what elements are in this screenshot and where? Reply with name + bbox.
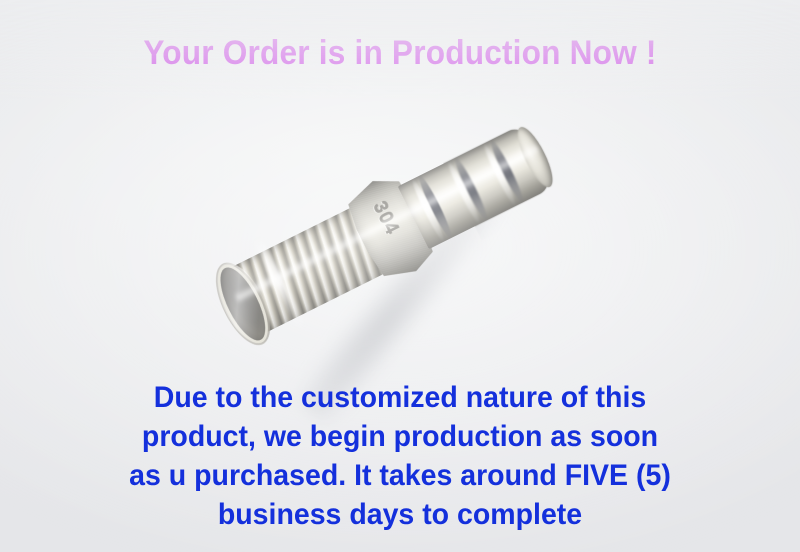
- body-copy-line: business days to complete: [20, 495, 780, 534]
- body-copy-text: Due to the customized nature of this pro…: [20, 378, 780, 534]
- body-copy-line: as u purchased. It takes around FIVE (5): [20, 456, 780, 495]
- product-photo: 304: [236, 148, 580, 358]
- body-copy-line: product, we begin production as soon: [20, 417, 780, 456]
- body-copy-line: Due to the customized nature of this: [20, 378, 780, 417]
- headline-text: Your Order is in Production Now !: [28, 36, 772, 72]
- promo-banner: Your Order is in Production Now ! 304: [0, 0, 800, 552]
